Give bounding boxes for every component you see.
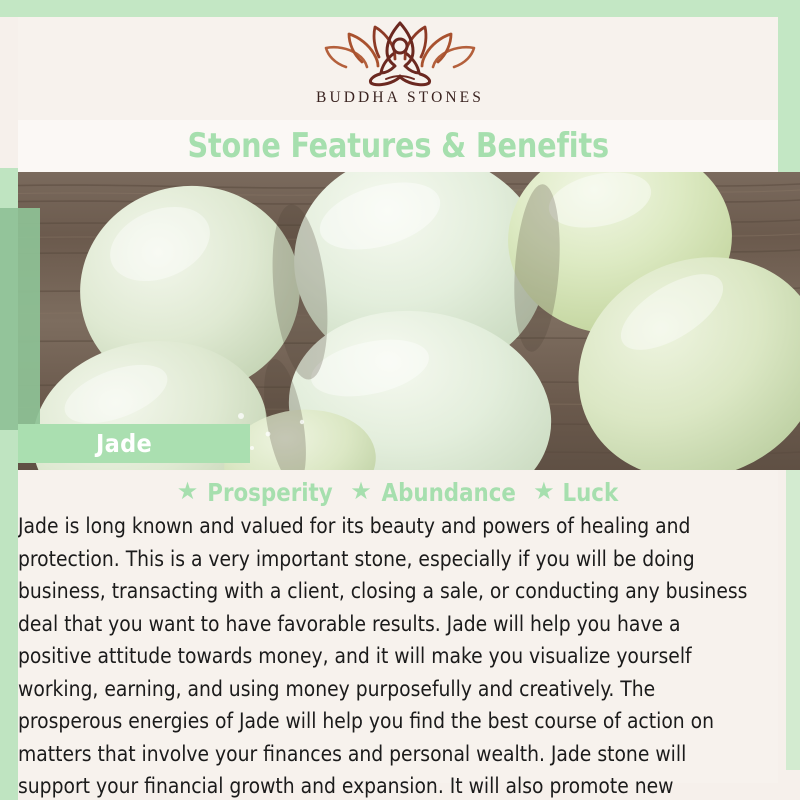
stone-description: Jade is long known and valued for its be… xyxy=(18,511,759,800)
stone-name: Jade xyxy=(96,429,152,458)
benefit-item: ★ Luck xyxy=(533,478,619,507)
star-icon: ★ xyxy=(177,480,199,504)
stone-info-poster: BUDDHA STONES Stone Features & Benefits xyxy=(0,0,800,800)
benefit-item: ★ Abundance xyxy=(350,478,519,507)
frame-accent-left-overlay xyxy=(18,208,40,430)
star-icon: ★ xyxy=(350,480,372,504)
benefit-label: Luck xyxy=(562,478,618,507)
benefits-row: ★ Prosperity ★ Abundance ★ Luck xyxy=(18,478,778,507)
benefit-label: Prosperity xyxy=(208,478,333,507)
benefit-label: Abundance xyxy=(381,478,515,507)
lotus-meditation-icon xyxy=(324,21,476,87)
frame-accent-left-deep xyxy=(0,208,18,430)
stone-name-band: Jade xyxy=(18,424,250,463)
brand-name: BUDDHA STONES xyxy=(316,89,484,107)
benefit-item: ★ Prosperity xyxy=(177,478,337,507)
frame-accent-right-lower xyxy=(786,470,800,770)
star-icon: ★ xyxy=(533,480,555,504)
headline-band: Stone Features & Benefits xyxy=(18,120,778,172)
page-title: Stone Features & Benefits xyxy=(187,126,608,166)
frame-accent-top xyxy=(0,0,800,17)
brand-header: BUDDHA STONES xyxy=(0,17,800,120)
